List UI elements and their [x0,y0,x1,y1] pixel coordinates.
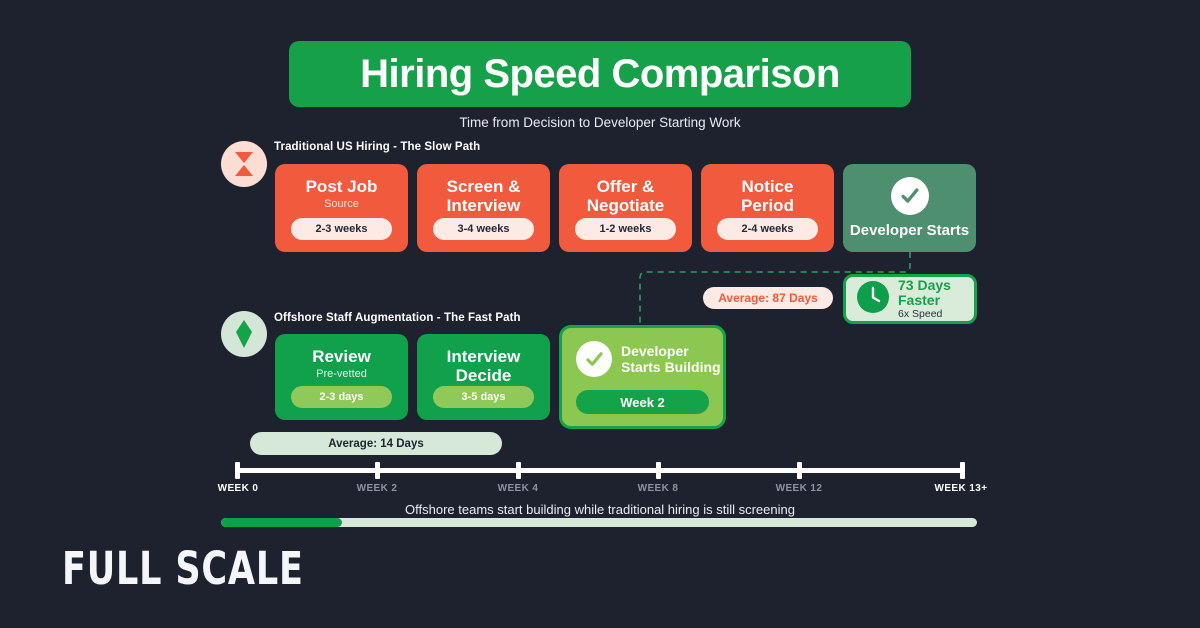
check-circle-icon [576,341,612,377]
stage-title: Notice Period [741,177,794,215]
stage-duration-pill: 2-4 weeks [717,218,818,240]
stage-title: Screen & Interview [447,177,521,215]
stage-card-post-job[interactable]: Post Job Source 2-3 weeks [275,164,408,252]
average-14-days-badge: Average: 14 Days [250,432,502,455]
stage-duration-pill: 2-3 weeks [291,218,392,240]
timeline-label-week-8: WEEK 8 [638,483,679,494]
check-circle-icon [891,177,929,215]
stage-card-interview-decide[interactable]: Interview Decide 3-5 days [417,334,550,420]
timeline-axis [235,468,965,473]
page-title: Hiring Speed Comparison [360,52,840,97]
stage-subtitle: Pre-vetted [316,368,367,380]
timeline-label-week-2: WEEK 2 [357,483,398,494]
faster-headline: 73 Days Faster [898,278,951,308]
stage-duration-pill: 3-4 weeks [433,218,534,240]
timeline-label-week-0: WEEK 0 [218,483,259,494]
clock-icon [856,280,890,319]
timeline-tick [960,462,965,479]
stage-card-notice-period[interactable]: Notice Period 2-4 weeks [701,164,834,252]
page-title-badge: Hiring Speed Comparison [289,41,911,107]
timeline-tick [656,462,661,479]
timeline-label-week-12: WEEK 12 [776,483,823,494]
stage-card-developer-starts-building[interactable]: Developer Starts Building Week 2 [559,325,726,429]
stage-card-developer-starts[interactable]: Developer Starts [843,164,976,252]
week-pill: Week 2 [576,390,709,414]
stage-card-screen-interview[interactable]: Screen & Interview 3-4 weeks [417,164,550,252]
stage-subtitle: Source [324,198,359,210]
stage-title: Post Job [306,177,378,196]
row-label-traditional: Traditional US Hiring - The Slow Path [274,141,480,153]
footer-note: Offshore teams start building while trad… [0,502,1200,517]
timeline-tick [797,462,802,479]
progress-bar-track [221,518,977,527]
stage-title: Interview Decide [447,347,521,385]
timeline-tick [516,462,521,479]
timeline-label-week-13: WEEK 13+ [935,483,988,494]
average-87-days-badge: Average: 87 Days [703,287,833,309]
timeline-tick [375,462,380,479]
stage-title: Review [312,347,371,366]
page-subtitle: Time from Decision to Developer Starting… [0,115,1200,130]
hourglass-icon [221,141,267,187]
stage-title: Offer & Negotiate [587,177,664,215]
stage-duration-pill: 3-5 days [433,386,534,408]
stage-duration-pill: 2-3 days [291,386,392,408]
infographic-canvas: Hiring Speed Comparison Time from Decisi… [0,0,1200,628]
brand-logo: FULL SCALE [62,542,304,595]
stage-card-offer-negotiate[interactable]: Offer & Negotiate 1-2 weeks [559,164,692,252]
row-label-offshore: Offshore Staff Augmentation - The Fast P… [274,312,521,324]
faster-subtext: 6x Speed [898,308,951,321]
progress-bar-fill [221,518,342,527]
diamond-arrow-icon [221,311,267,357]
stage-duration-pill: 1-2 weeks [575,218,676,240]
timeline-label-week-4: WEEK 4 [498,483,539,494]
stage-card-review[interactable]: Review Pre-vetted 2-3 days [275,334,408,420]
timeline-tick [235,462,240,479]
faster-badge: 73 Days Faster 6x Speed [843,274,977,324]
developer-starts-label: Developer Starts [850,222,969,239]
developer-starts-building-label: Developer Starts Building [621,343,721,375]
